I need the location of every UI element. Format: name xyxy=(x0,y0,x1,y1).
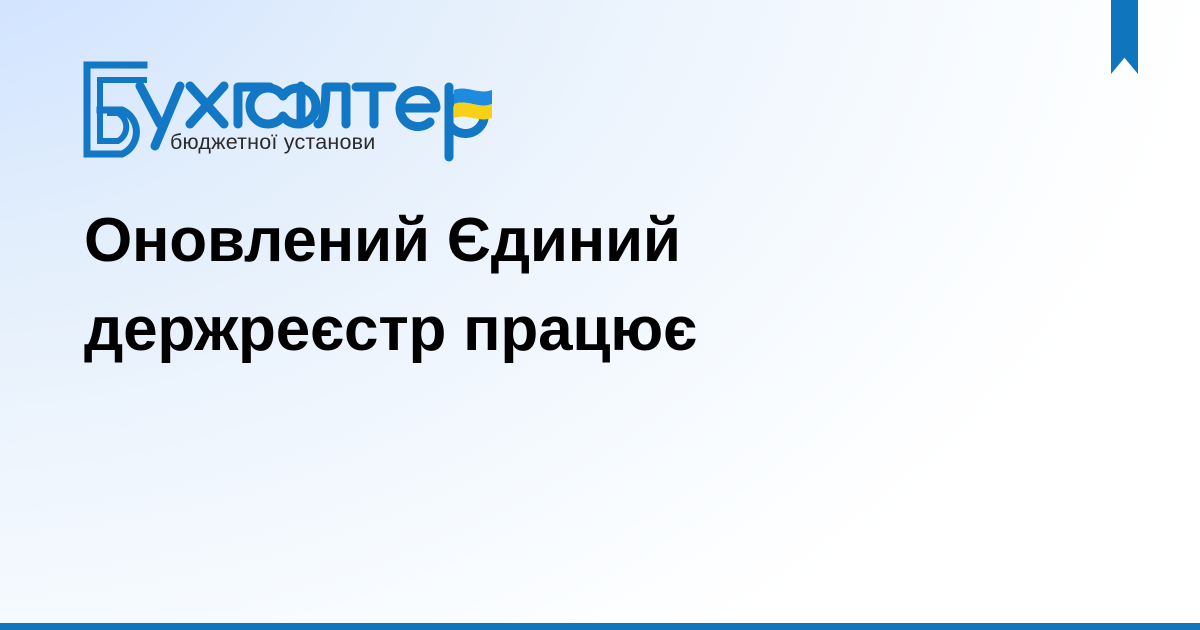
bookmark-ribbon-icon xyxy=(1111,0,1138,74)
site-logo[interactable]: бюджетної установи xyxy=(78,62,478,167)
logo-letter-b-icon xyxy=(87,65,144,154)
bottom-accent-bar xyxy=(0,623,1200,630)
ukraine-flag-icon xyxy=(454,89,492,120)
page-title: Оновлений Єдиний держреєстр працює xyxy=(84,196,804,374)
logo-tagline: бюджетної установи xyxy=(170,130,375,154)
article-preview-card: бюджетної установи Оновлений Єдиний держ… xyxy=(0,0,1200,630)
